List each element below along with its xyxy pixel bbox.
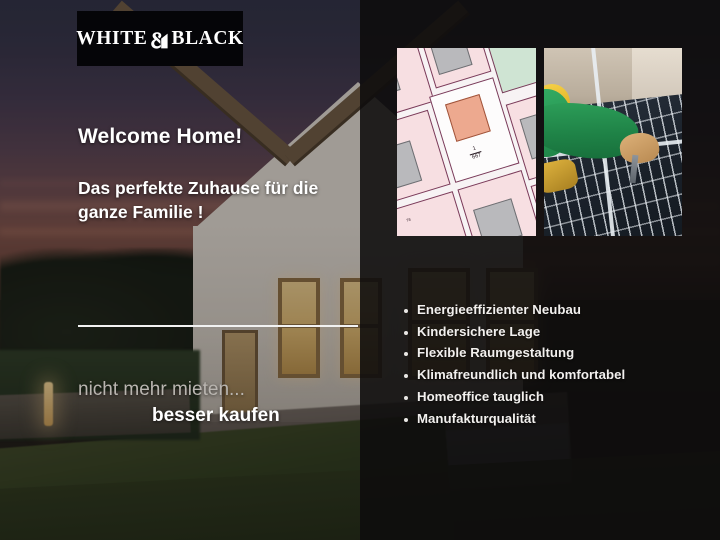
brand-logo-text: WHITE BLACK	[76, 28, 244, 50]
logo-word-white: WHITE	[76, 28, 147, 50]
feature-list: Energieeffizienter Neubau Kindersichere …	[404, 303, 704, 433]
feature-label: Manufakturqualität	[417, 412, 536, 425]
logo-word-black: BLACK	[171, 28, 243, 50]
divider-rule	[78, 325, 358, 327]
list-item: Klimafreundlich und komfortabel	[404, 368, 704, 381]
feature-label: Energieeffizienter Neubau	[417, 303, 581, 316]
list-item: Kindersichere Lage	[404, 325, 704, 338]
feature-label: Klimafreundlich und komfortabel	[417, 368, 625, 381]
brand-logo: WHITE BLACK	[77, 11, 243, 66]
ampersand-house-icon	[148, 31, 170, 50]
welcome-heading: Welcome Home!	[78, 125, 242, 149]
feature-label: Kindersichere Lage	[417, 325, 540, 338]
bullet-icon	[404, 418, 408, 422]
solar-canvas	[544, 48, 682, 236]
plot-number-top: 1	[473, 146, 478, 153]
feature-label: Homeoffice tauglich	[417, 390, 544, 403]
list-item: Manufakturqualität	[404, 412, 704, 425]
bullet-icon	[404, 331, 408, 335]
list-item: Flexible Raumgestaltung	[404, 346, 704, 359]
thumbnail-cadastral-map[interactable]: 40 39 78 14 34 699 1 667 1 888	[397, 48, 536, 236]
slogan-line-2: besser kaufen	[152, 405, 280, 427]
slogan-line-1: nicht mehr mieten...	[78, 379, 245, 401]
list-item: Energieeffizienter Neubau	[404, 303, 704, 316]
thumbnail-solar-installation[interactable]	[544, 48, 682, 236]
map-rotation-layer: 40 39 78 14 34 699 1 667 1 888	[397, 48, 536, 236]
promo-slide: WHITE BLACK Welcome Home! Das perfekte Z…	[0, 0, 720, 540]
list-item: Homeoffice tauglich	[404, 390, 704, 403]
feature-label: Flexible Raumgestaltung	[417, 346, 574, 359]
bullet-icon	[404, 374, 408, 378]
subheading: Das perfekte Zuhause für die ganze Famil…	[78, 176, 348, 224]
map-canvas: 40 39 78 14 34 699 1 667 1 888	[397, 48, 536, 236]
bullet-icon	[404, 396, 408, 400]
bullet-icon	[404, 309, 408, 313]
bullet-icon	[404, 352, 408, 356]
